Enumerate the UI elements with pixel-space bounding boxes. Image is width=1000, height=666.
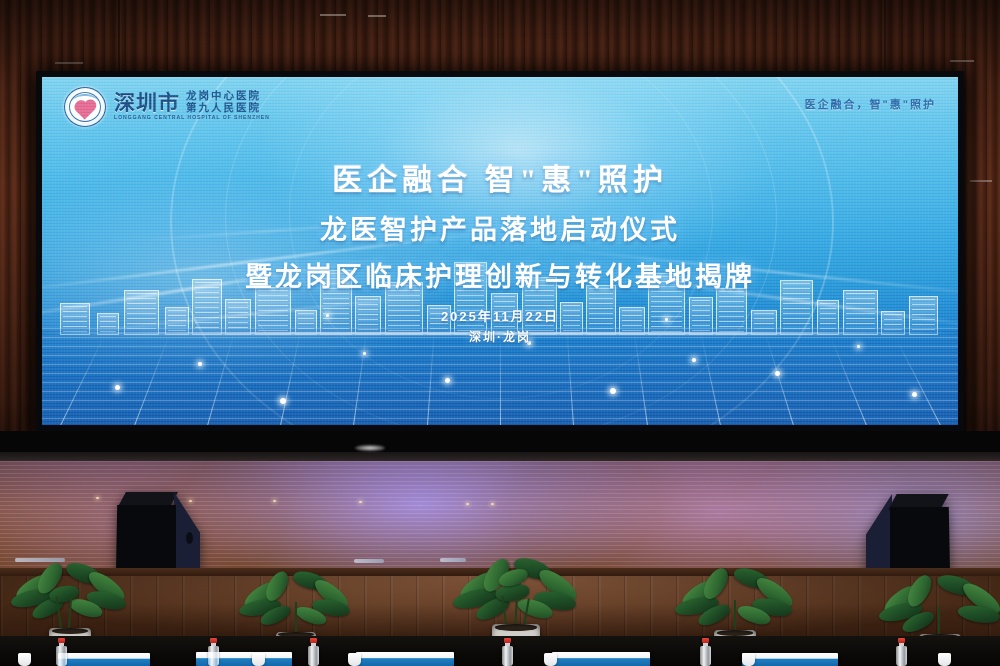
paper-cup [544,653,557,666]
paper-cup [252,653,265,666]
table-nameplate [742,653,838,666]
bottle-cap [310,638,317,643]
paper-cup [938,653,951,666]
floor-sparkle [359,501,362,503]
bottle-cap [58,638,65,643]
stage-rear-light-spot [355,445,385,451]
table-nameplate [356,652,454,666]
floor-cable-strip [354,559,384,563]
table-nameplate [58,653,150,666]
bottle-cap [210,638,217,643]
paper-cup [18,653,31,666]
conference-hall-scene: 深圳市 龙岗中心医院 第九人民医院 LONGGANG CENTRAL HOSPI… [0,0,1000,666]
stage-monitor-left [116,492,200,570]
paper-cup [348,653,361,666]
stage-monitor-right [866,494,952,572]
table-nameplate [552,652,650,666]
front-table-top [0,636,1000,666]
bottle-cap [504,638,511,643]
led-screen: 深圳市 龙岗中心医院 第九人民医院 LONGGANG CENTRAL HOSPI… [42,77,958,425]
bottle-cap [702,638,709,643]
screen-pixel-matrix [42,77,958,425]
floor-sparkle [96,497,99,499]
floor-sparkle [491,503,494,505]
floor-sparkle [273,500,276,502]
paper-cup [742,653,755,666]
bottle-cap [898,638,905,643]
floor-sparkle [466,503,469,505]
